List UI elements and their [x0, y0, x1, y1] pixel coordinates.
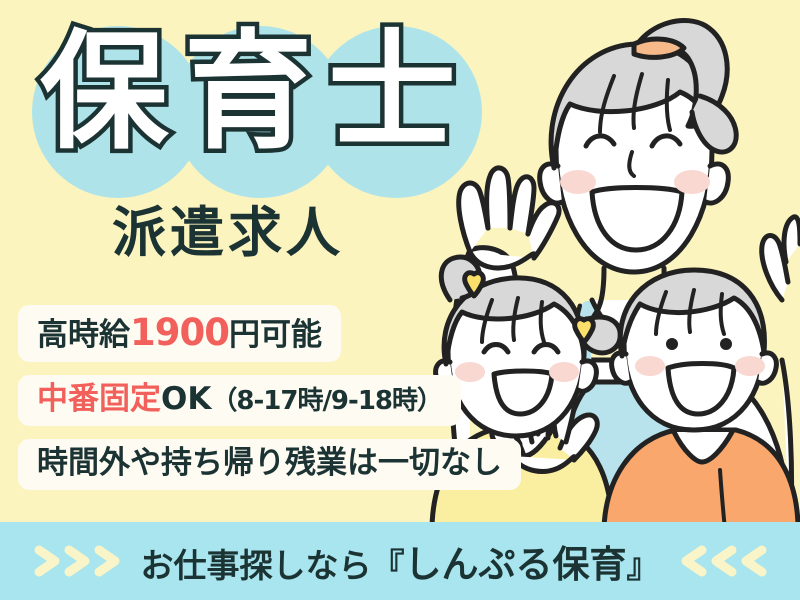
chevrons-right-icon	[31, 541, 123, 581]
feature-pill-shift: 中番固定OK（8-17時/9-18時）	[18, 375, 461, 426]
shift-detail: （8-17時/9-18時）	[211, 386, 442, 416]
footer-lead: お仕事探しなら	[141, 546, 372, 585]
footer-message: お仕事探しなら『しんぷる保育』	[141, 534, 660, 588]
wage-amount: 1900	[130, 311, 229, 354]
overtime-text: 時間外や持ち帰り残業は一切なし	[37, 445, 502, 481]
feature-pill-wage: 高時給1900円可能	[18, 305, 341, 362]
feature-pill-overtime: 時間外や持ち帰り残業は一切なし	[18, 439, 521, 490]
footer-open-quote: 『	[372, 546, 405, 585]
page-title: 保育士	[40, 24, 472, 162]
feature-pill-list: 高時給1900円可能 中番固定OK（8-17時/9-18時） 時間外や持ち帰り残…	[18, 305, 521, 490]
shift-emphasis: 中番固定	[37, 381, 161, 417]
text-layer: 保育士 派遣求人 高時給1900円可能 中番固定OK（8-17時/9-18時） …	[0, 0, 800, 600]
footer-brand: しんぷる保育	[405, 543, 627, 586]
wage-suffix: 円可能	[229, 317, 322, 353]
footer-bar: お仕事探しなら『しんぷる保育』	[0, 522, 800, 600]
footer-close-quote: 』	[627, 546, 660, 585]
shift-suffix: OK	[161, 381, 211, 417]
chevrons-left-icon	[678, 541, 770, 581]
promo-banner: 保育士 派遣求人 高時給1900円可能 中番固定OK（8-17時/9-18時） …	[0, 0, 800, 600]
page-subtitle: 派遣求人	[112, 206, 344, 260]
wage-prefix: 高時給	[37, 317, 130, 353]
